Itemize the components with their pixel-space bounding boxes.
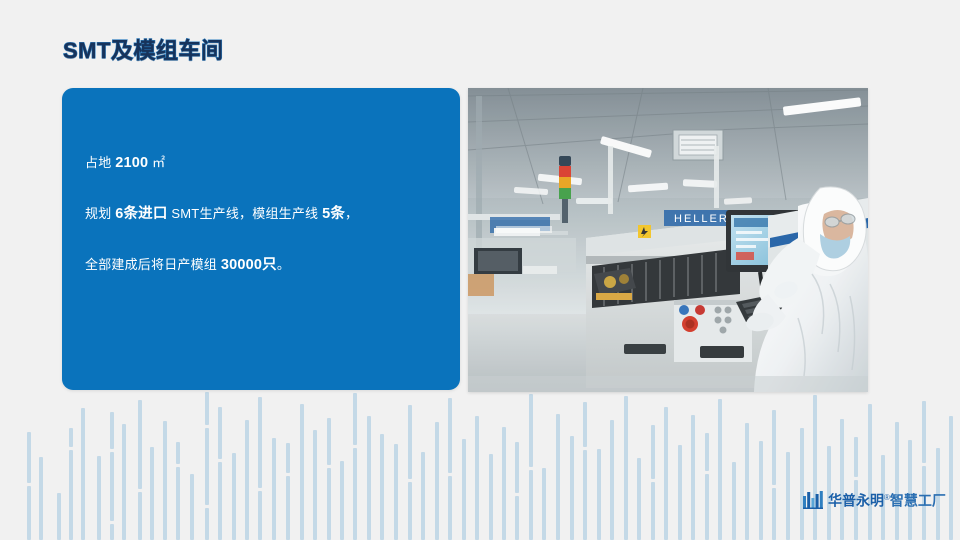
decorative-bar bbox=[515, 442, 519, 493]
decorative-bar bbox=[205, 428, 209, 505]
decorative-bar bbox=[176, 467, 180, 540]
decorative-bar bbox=[745, 423, 749, 540]
decorative-bar bbox=[110, 524, 114, 540]
decorative-bar bbox=[176, 442, 180, 464]
decorative-bar bbox=[489, 454, 493, 540]
info-line-output-prefix: 全部建成后将日产模组 bbox=[85, 257, 221, 272]
decorative-bar bbox=[353, 393, 357, 445]
decorative-bar bbox=[300, 404, 304, 540]
info-line-lines-value1: 6条进口 bbox=[115, 206, 167, 222]
decorative-bar bbox=[163, 421, 167, 540]
decorative-bar bbox=[245, 420, 249, 540]
decorative-bar bbox=[435, 422, 439, 540]
decorative-bar bbox=[327, 418, 331, 465]
decorative-bar bbox=[529, 470, 533, 540]
decorative-bar bbox=[27, 486, 31, 540]
info-line-output-suffix: 。 bbox=[277, 257, 290, 272]
decorative-bar bbox=[408, 405, 412, 479]
decorative-bar bbox=[515, 496, 519, 540]
decorative-bar bbox=[367, 416, 371, 540]
decorative-bar bbox=[718, 399, 722, 540]
decorative-bar bbox=[868, 404, 872, 540]
decorative-bar bbox=[651, 425, 655, 479]
decorative-bar bbox=[922, 401, 926, 463]
decorative-bar bbox=[138, 400, 142, 489]
info-line-area-unit: ㎡ bbox=[148, 155, 165, 170]
decorative-bar bbox=[421, 452, 425, 540]
slide-canvas: SMT及模组车间 占地 2100 ㎡ 规划 6条进口 SMT生产线，模组生产线 … bbox=[0, 0, 960, 540]
info-line-lines-mid: SMT生产线，模组生产线 bbox=[168, 206, 322, 221]
decorative-bar bbox=[651, 482, 655, 540]
info-card: 占地 2100 ㎡ 规划 6条进口 SMT生产线，模组生产线 5条， 全部建成后… bbox=[62, 88, 460, 390]
decorative-bar bbox=[110, 452, 114, 521]
decorative-bar bbox=[949, 416, 953, 540]
decorative-bar bbox=[272, 438, 276, 540]
info-line-output-value: 30000只 bbox=[221, 257, 277, 273]
decorative-bar bbox=[205, 508, 209, 540]
decorative-bar bbox=[840, 419, 844, 540]
info-line-area-value: 2100 bbox=[115, 155, 148, 171]
decorative-bar bbox=[150, 447, 154, 540]
brand-name: 华普永明 bbox=[828, 493, 884, 509]
decorative-bar bbox=[502, 427, 506, 540]
decorative-bar bbox=[462, 439, 466, 540]
decorative-bar bbox=[232, 453, 236, 540]
decorative-bar-pattern bbox=[0, 390, 960, 540]
decorative-bar bbox=[475, 416, 479, 540]
decorative-bar bbox=[813, 395, 817, 540]
info-card-text-block: 占地 2100 ㎡ 规划 6条进口 SMT生产线，模组生产线 5条， 全部建成后… bbox=[85, 154, 448, 274]
info-line-area: 占地 2100 ㎡ bbox=[85, 154, 448, 172]
smt-cleanroom-photo: HELLER bbox=[468, 88, 868, 392]
decorative-bar bbox=[786, 452, 790, 540]
decorative-bar bbox=[556, 414, 560, 540]
decorative-bar bbox=[138, 492, 142, 540]
decorative-bar bbox=[583, 450, 587, 540]
decorative-bar bbox=[529, 394, 533, 467]
decorative-bar bbox=[327, 468, 331, 540]
decorative-bar bbox=[854, 437, 858, 477]
decorative-bar bbox=[39, 457, 43, 540]
decorative-bar bbox=[286, 476, 290, 540]
decorative-bar bbox=[664, 407, 668, 540]
photo-illustration: HELLER bbox=[468, 88, 868, 392]
info-line-lines-suffix: ， bbox=[345, 206, 358, 221]
decorative-bar bbox=[678, 445, 682, 540]
decorative-bar bbox=[610, 420, 614, 540]
brand-logo-text: 华普永明®智慧工厂 bbox=[828, 490, 946, 509]
decorative-bar bbox=[705, 433, 709, 471]
decorative-bar bbox=[340, 461, 344, 540]
bar-chart-mark-icon bbox=[803, 491, 823, 509]
info-line-lines-value2: 5条 bbox=[322, 206, 345, 222]
decorative-bar bbox=[380, 434, 384, 540]
decorative-bar bbox=[27, 432, 31, 483]
decorative-bar bbox=[597, 449, 601, 540]
decorative-bar bbox=[258, 397, 262, 488]
info-line-output: 全部建成后将日产模组 30000只。 bbox=[85, 256, 448, 274]
decorative-bar bbox=[205, 392, 209, 425]
info-line-area-prefix: 占地 bbox=[85, 155, 115, 170]
page-title: SMT及模组车间 bbox=[63, 33, 223, 65]
decorative-bar bbox=[624, 396, 628, 540]
decorative-bar bbox=[583, 402, 587, 447]
decorative-bar bbox=[759, 441, 763, 540]
decorative-bar bbox=[69, 450, 73, 540]
decorative-bar bbox=[448, 398, 452, 473]
info-line-lines: 规划 6条进口 SMT生产线，模组生产线 5条， bbox=[85, 205, 448, 223]
sub-brand-name: 智慧工厂 bbox=[890, 493, 946, 509]
decorative-bar bbox=[69, 428, 73, 447]
decorative-bar bbox=[394, 444, 398, 540]
decorative-bar bbox=[57, 493, 61, 540]
decorative-bar bbox=[218, 407, 222, 459]
decorative-bar bbox=[286, 443, 290, 473]
decorative-bar bbox=[895, 422, 899, 540]
decorative-bar bbox=[190, 474, 194, 540]
decorative-bar bbox=[772, 488, 776, 540]
decorative-bar bbox=[122, 424, 126, 540]
decorative-bar bbox=[637, 458, 641, 540]
decorative-bar bbox=[97, 456, 101, 540]
decorative-bar bbox=[705, 474, 709, 540]
decorative-bar bbox=[448, 476, 452, 540]
decorative-bar bbox=[110, 412, 114, 449]
decorative-bar bbox=[691, 415, 695, 540]
decorative-bar bbox=[542, 468, 546, 540]
decorative-bar bbox=[800, 428, 804, 540]
decorative-bar bbox=[258, 491, 262, 540]
info-line-lines-prefix: 规划 bbox=[85, 206, 115, 221]
brand-logo: 华普永明®智慧工厂 bbox=[803, 487, 946, 509]
decorative-bar bbox=[570, 436, 574, 540]
decorative-bar bbox=[732, 462, 736, 540]
decorative-bar bbox=[81, 408, 85, 540]
decorative-bar bbox=[353, 448, 357, 540]
decorative-bar bbox=[772, 410, 776, 485]
decorative-bar bbox=[313, 430, 317, 540]
decorative-bar bbox=[218, 462, 222, 540]
decorative-bar bbox=[408, 482, 412, 540]
